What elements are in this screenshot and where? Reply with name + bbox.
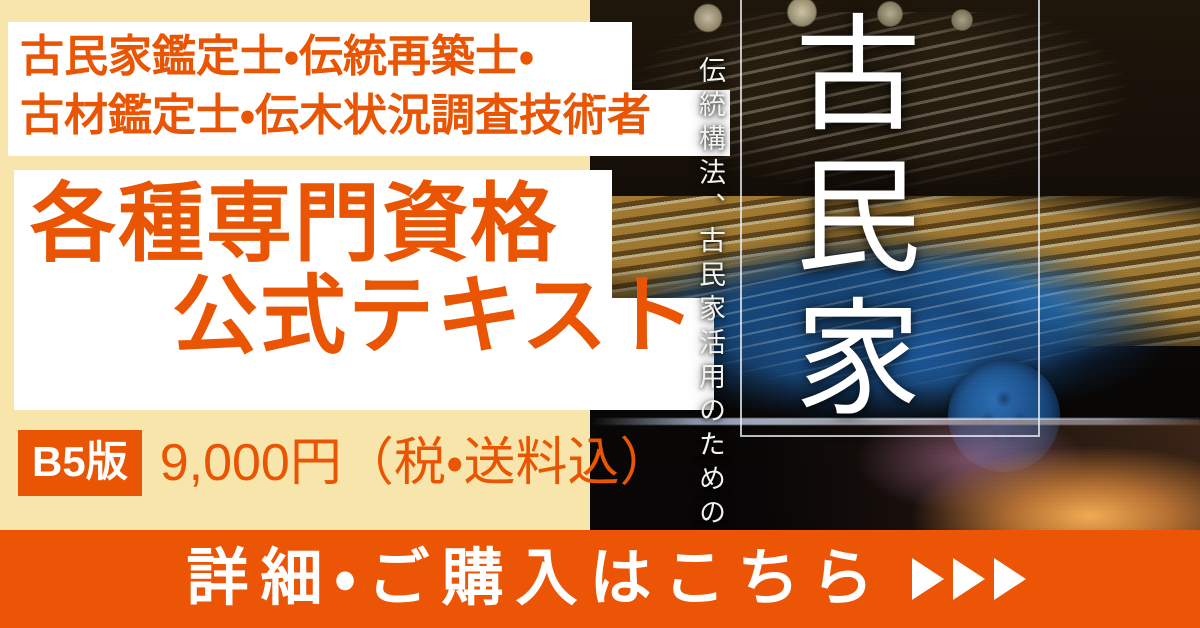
play-arrow-icon xyxy=(912,558,944,600)
format-badge: B5版 xyxy=(18,430,142,496)
cta-arrow-group xyxy=(912,558,1026,600)
headline-line-1: 古民家鑑定士・伝統再築士・ xyxy=(20,28,651,87)
main-title-line-2: 公式テキスト xyxy=(16,270,697,362)
promo-banner: 古民家 伝統構法、古民家活用のための調査と再生の 古民家鑑定士・伝統再築士・ 古… xyxy=(0,0,1200,628)
play-arrow-icon xyxy=(953,558,985,600)
cta-label: 詳細・ご購入はこちら xyxy=(174,548,885,610)
headline-line-2: 古材鑑定士・伝木状況調査技術者 xyxy=(20,87,651,146)
headline-block: 古民家鑑定士・伝統再築士・ 古材鑑定士・伝木状況調査技術者 xyxy=(20,28,651,145)
price-row: B5版 9,000円（税・送料込） xyxy=(18,430,672,496)
price-text: 9,000円（税・送料込） xyxy=(160,437,672,489)
play-arrow-icon xyxy=(994,558,1026,600)
main-title-line-1: 各種専門資格 xyxy=(16,178,697,270)
book-cover-subtitle: 伝統構法、古民家活用のための調査と再生の xyxy=(696,56,723,540)
book-cover-title: 古民家 xyxy=(782,8,908,434)
main-title-block: 各種専門資格 公式テキスト xyxy=(16,178,697,362)
cta-button[interactable]: 詳細・ご購入はこちら xyxy=(0,530,1200,628)
